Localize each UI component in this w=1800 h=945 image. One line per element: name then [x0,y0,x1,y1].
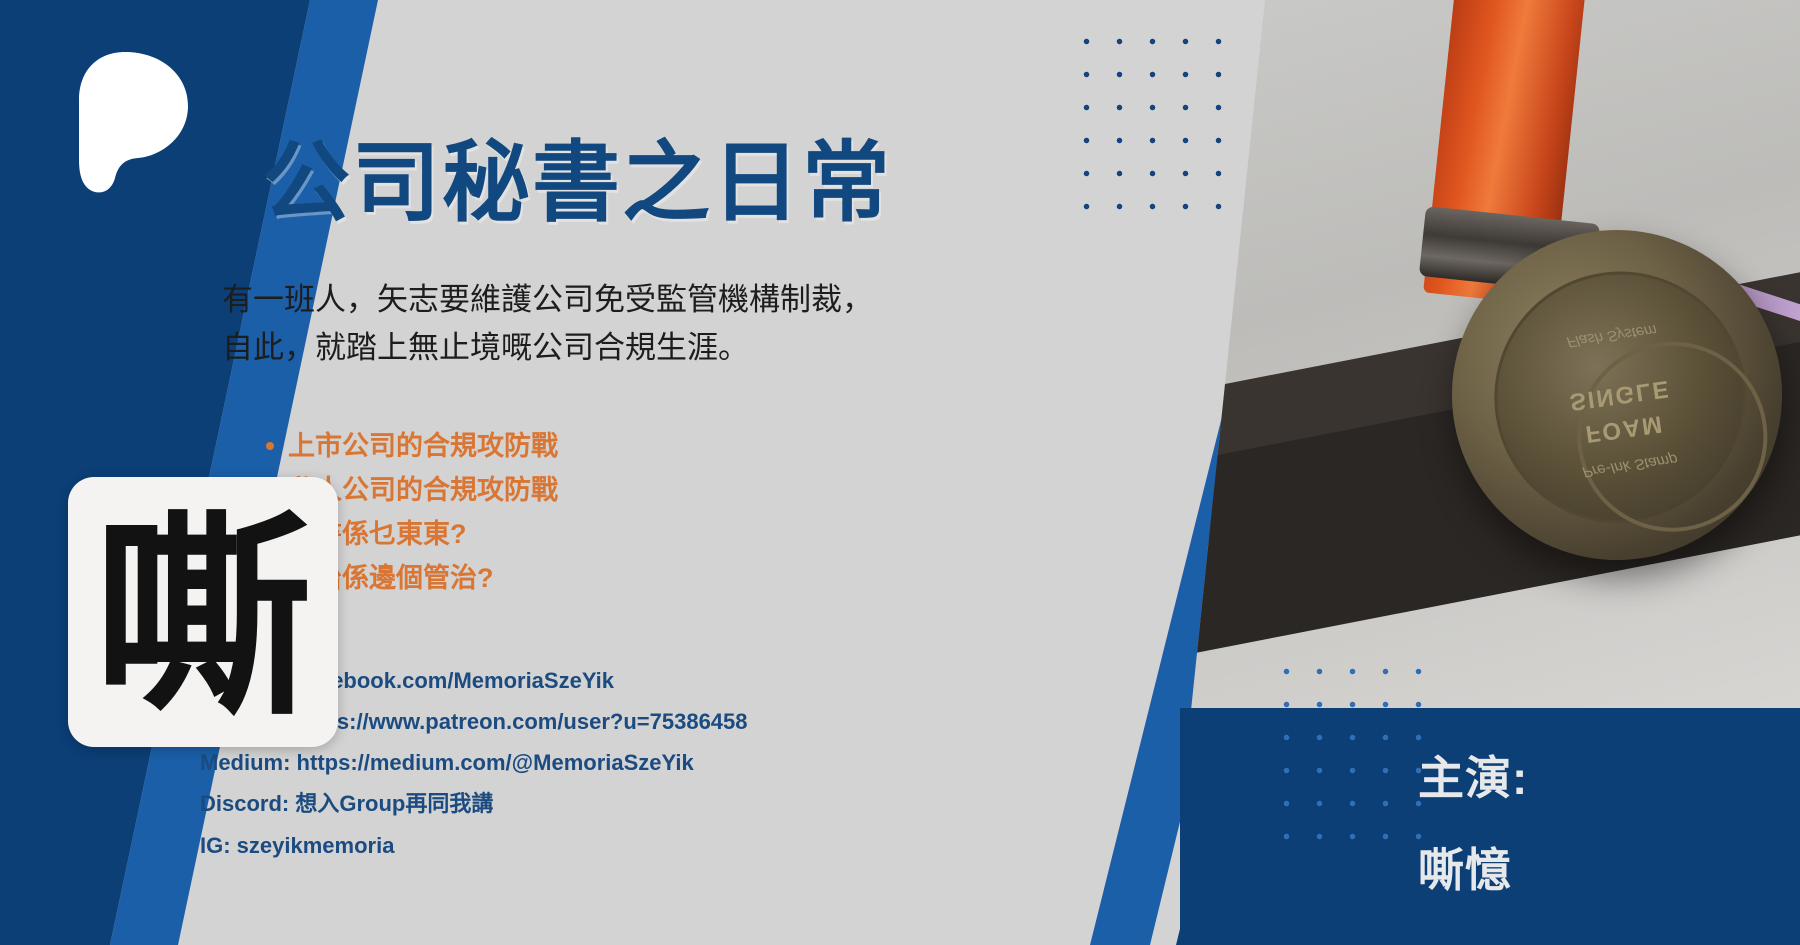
stamp-cap-inner: Flash System SINGLE FOAM Pre-Ink Stamp [1478,255,1763,540]
avatar-calligraphy-glyph: 嘶 [94,508,312,726]
list-item: 上市公司的合規攻防戰 [262,424,558,468]
patreon-logo-icon [62,48,192,196]
link-medium[interactable]: Medium: https://medium.com/@MemoriaSzeYi… [200,742,748,783]
hero-description-line-1: 有一班人，矢志要維護公司免受監管機構制裁， [222,276,873,324]
stamp-photo: Flash System SINGLE FOAM Pre-Ink Stamp [1190,0,1800,720]
page-title: 公司秘書之日常 [262,112,892,239]
hero-description-line-2: 自此，就踏上無止境嘅公司合規生涯。 [222,324,873,372]
cast-label: 主演: [1418,742,1528,808]
poster-canvas: Flash System SINGLE FOAM Pre-Ink Stamp 公… [0,0,1800,945]
hero-description: 有一班人，矢志要維護公司免受監管機構制裁， 自此，就踏上無止境嘅公司合規生涯。 [222,276,873,372]
link-discord[interactable]: Discord: 想入Group再同我講 [200,783,748,824]
cast-name: 嘶憶 [1418,834,1512,900]
link-instagram[interactable]: IG: szeyikmemoria [200,825,748,866]
avatar[interactable]: 嘶 [68,477,338,747]
dot-grid-top-right [1070,25,1245,225]
